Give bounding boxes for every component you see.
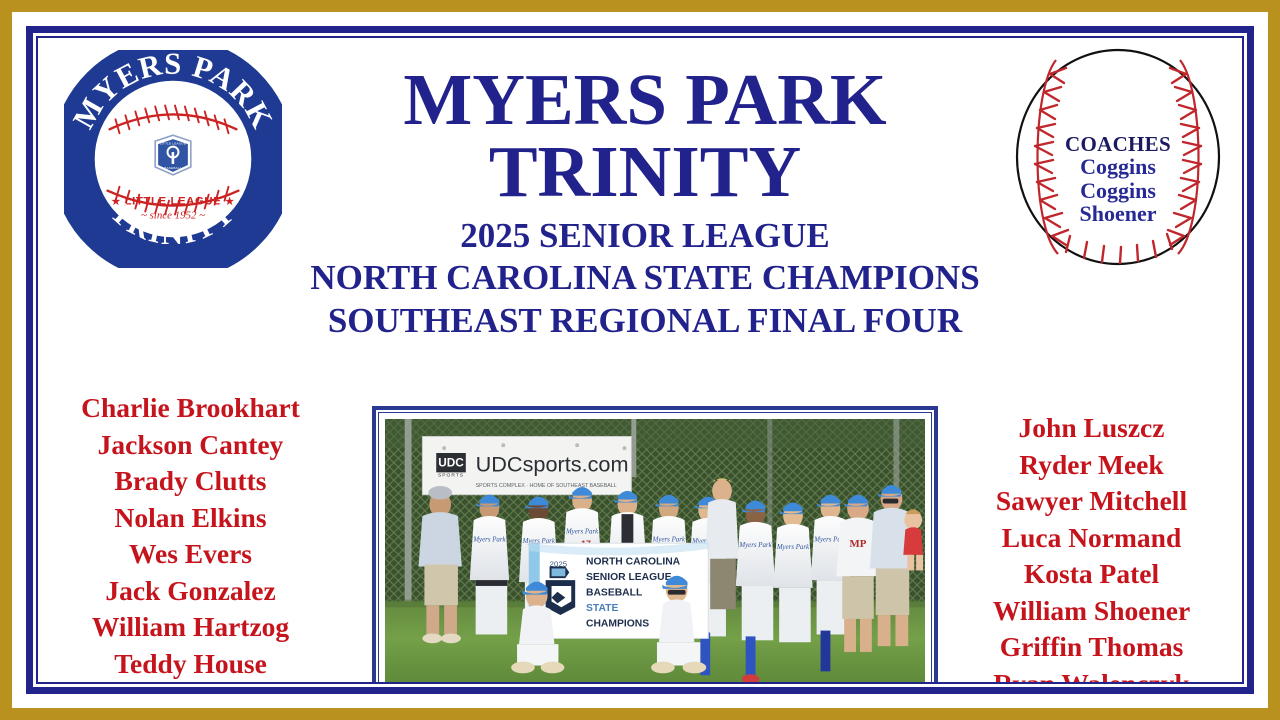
svg-text:STATE: STATE xyxy=(586,603,618,614)
subtitle-regional-final-four: SOUTHEAST REGIONAL FINAL FOUR xyxy=(288,300,1002,343)
svg-text:UDCsports.com: UDCsports.com xyxy=(476,453,629,477)
svg-text:NORTH CAROLINA: NORTH CAROLINA xyxy=(586,557,681,568)
svg-text:SPORTS COMPLEX · HOME OF SOUTH: SPORTS COMPLEX · HOME OF SOUTHEAST BASEB… xyxy=(476,483,617,489)
svg-text:SENIOR LEAGUE: SENIOR LEAGUE xyxy=(586,572,672,583)
svg-text:MP: MP xyxy=(850,538,867,550)
player-name: Nolan Elkins xyxy=(48,500,333,537)
poster-header: LITTLE LEAGUE BASEBALL ★ LITTLE LEAGUE ★… xyxy=(38,38,1242,350)
roster-column-left: Charlie Brookhart Jackson Cantey Brady C… xyxy=(48,390,333,682)
svg-text:BASEBALL: BASEBALL xyxy=(164,166,181,170)
player-name: John Luszcz xyxy=(949,410,1234,447)
player-name: William Shoener xyxy=(949,593,1234,630)
little-league-shield: LITTLE LEAGUE BASEBALL xyxy=(155,135,191,175)
player-name: Brady Clutts xyxy=(48,463,333,500)
team-photo-frame: UDC SPORTS UDCsports.com SPORTS COMPLEX … xyxy=(372,406,938,682)
svg-text:SPORTS: SPORTS xyxy=(438,472,464,478)
myers-park-trinity-logo: LITTLE LEAGUE BASEBALL ★ LITTLE LEAGUE ★… xyxy=(64,50,282,268)
player-name: William Hartzog xyxy=(48,609,333,646)
svg-text:CHAMPIONS: CHAMPIONS xyxy=(586,619,649,630)
player-name: Ryder Meek xyxy=(949,447,1234,484)
coaches-baseball: COACHES Coggins Coggins Shoener xyxy=(1014,46,1222,268)
svg-text:Myers Park: Myers Park xyxy=(776,544,810,551)
svg-text:Myers Park: Myers Park xyxy=(738,542,772,549)
poster-navy-frame-outer: LITTLE LEAGUE BASEBALL ★ LITTLE LEAGUE ★… xyxy=(26,26,1254,694)
subtitle-season: 2025 SENIOR LEAGUE xyxy=(288,215,1002,258)
svg-text:Myers Park: Myers Park xyxy=(565,529,599,536)
team-photo: UDC SPORTS UDCsports.com SPORTS COMPLEX … xyxy=(385,419,925,682)
player-name: Ryan Walenczyk xyxy=(949,666,1234,682)
player-name: Jack Gonzalez xyxy=(48,573,333,610)
poster-frame-white-gap: LITTLE LEAGUE BASEBALL ★ LITTLE LEAGUE ★… xyxy=(33,33,1247,687)
udc-sports-sign: UDC SPORTS UDCsports.com SPORTS COMPLEX … xyxy=(422,436,631,494)
roster-column-right: John Luszcz Ryder Meek Sawyer Mitchell L… xyxy=(949,410,1234,682)
poster-canvas: LITTLE LEAGUE BASEBALL ★ LITTLE LEAGUE ★… xyxy=(38,38,1242,682)
svg-text:UDC: UDC xyxy=(438,457,464,470)
player-name: Charlie Brookhart xyxy=(48,390,333,427)
poster-titles: MYERS PARK TRINITY 2025 SENIOR LEAGUE NO… xyxy=(288,64,1002,343)
poster-root: LITTLE LEAGUE BASEBALL ★ LITTLE LEAGUE ★… xyxy=(0,0,1280,720)
player-name: Wes Evers xyxy=(48,536,333,573)
svg-text:Myers Park: Myers Park xyxy=(652,536,686,543)
svg-text:Myers Park: Myers Park xyxy=(472,536,506,543)
title-line-1: MYERS PARK xyxy=(288,64,1002,136)
poster-navy-frame-inner: LITTLE LEAGUE BASEBALL ★ LITTLE LEAGUE ★… xyxy=(36,36,1244,684)
player-name: Sawyer Mitchell xyxy=(949,483,1234,520)
svg-text:LITTLE LEAGUE: LITTLE LEAGUE xyxy=(160,142,186,146)
team-photo-mat: UDC SPORTS UDCsports.com SPORTS COMPLEX … xyxy=(378,412,932,682)
player-name: Griffin Thomas xyxy=(949,629,1234,666)
poster-white-mat: LITTLE LEAGUE BASEBALL ★ LITTLE LEAGUE ★… xyxy=(12,12,1268,708)
title-line-2: TRINITY xyxy=(288,136,1002,208)
player-name: Kosta Patel xyxy=(949,556,1234,593)
player-name: Jackson Cantey xyxy=(48,427,333,464)
subtitle-state-champions: NORTH CAROLINA STATE CHAMPIONS xyxy=(288,257,1002,300)
svg-text:BASEBALL: BASEBALL xyxy=(586,588,642,599)
player-name: Luca Normand xyxy=(949,520,1234,557)
player-name: Teddy House xyxy=(48,646,333,682)
